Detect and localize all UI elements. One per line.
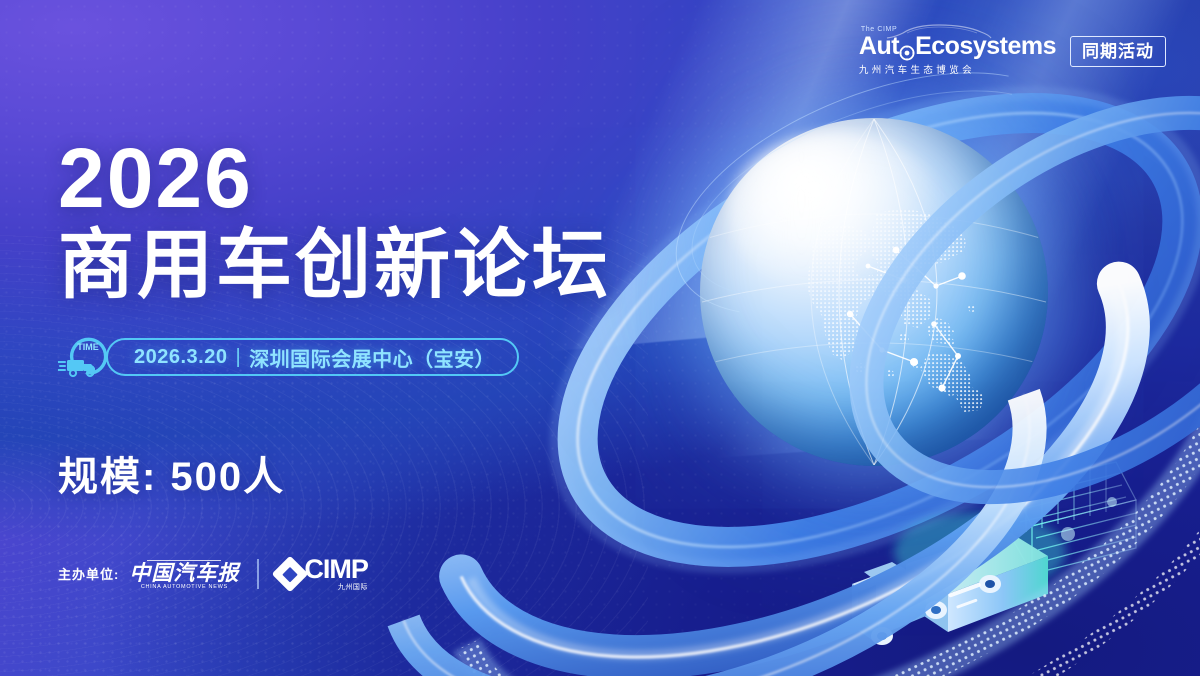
organizer-row: 主办单位: 中国汽车报 CHINA AUTOMOTIVE NEWS CIMP 九… (58, 556, 678, 591)
cimp-text: CIMP 九州国际 (304, 556, 368, 591)
top-right-logo-lockup: The CIMP Aut Ecosystems (859, 26, 1166, 76)
logo-cimp: CIMP 九州国际 (277, 556, 368, 591)
car-silhouette-icon (885, 23, 993, 41)
organizer-label: 主办单位: (58, 564, 119, 583)
autoecosystems-logo: The CIMP Aut Ecosystems (859, 26, 1056, 76)
banner-content: 2026 商用车创新论坛 TIME (58, 0, 678, 676)
globe-network-overlay (700, 118, 1048, 466)
time-truck-icon: TIME (58, 334, 116, 380)
organizer-divider (257, 559, 259, 589)
autoecosystems-subtitle: 九州汽车生态博览会 (859, 62, 975, 76)
concurrent-event-badge: 同期活动 (1070, 36, 1166, 67)
cimp-diamond-icon (272, 555, 309, 592)
time-icon-label: TIME (77, 342, 99, 352)
event-date: 2026.3.20 (134, 346, 227, 369)
event-title: 商用车创新论坛 (58, 227, 678, 305)
event-venue: 深圳国际会展中心（宝安） (249, 343, 495, 372)
gear-wheel-icon (899, 41, 915, 57)
attendance-scale: 规模: 500人 (58, 444, 678, 502)
logo-can-en: CHINA AUTOMOTIVE NEWS (141, 584, 228, 590)
event-banner: 2026 商用车创新论坛 TIME (0, 0, 1200, 676)
event-year: 2026 (58, 138, 678, 219)
date-venue-row: TIME (58, 334, 678, 380)
logo-can-cn: 中国汽车报 (129, 563, 239, 584)
cimp-subtitle: 九州国际 (304, 584, 368, 591)
truck-illustration (830, 452, 1160, 652)
logo-china-automotive-news: 中国汽车报 CHINA AUTOMOTIVE NEWS (129, 558, 239, 590)
cimp-wordmark: CIMP (304, 556, 368, 583)
pill-separator: | (235, 346, 241, 369)
globe-graphic (700, 118, 1048, 466)
date-venue-pill: 2026.3.20 | 深圳国际会展中心（宝安） (106, 338, 519, 376)
